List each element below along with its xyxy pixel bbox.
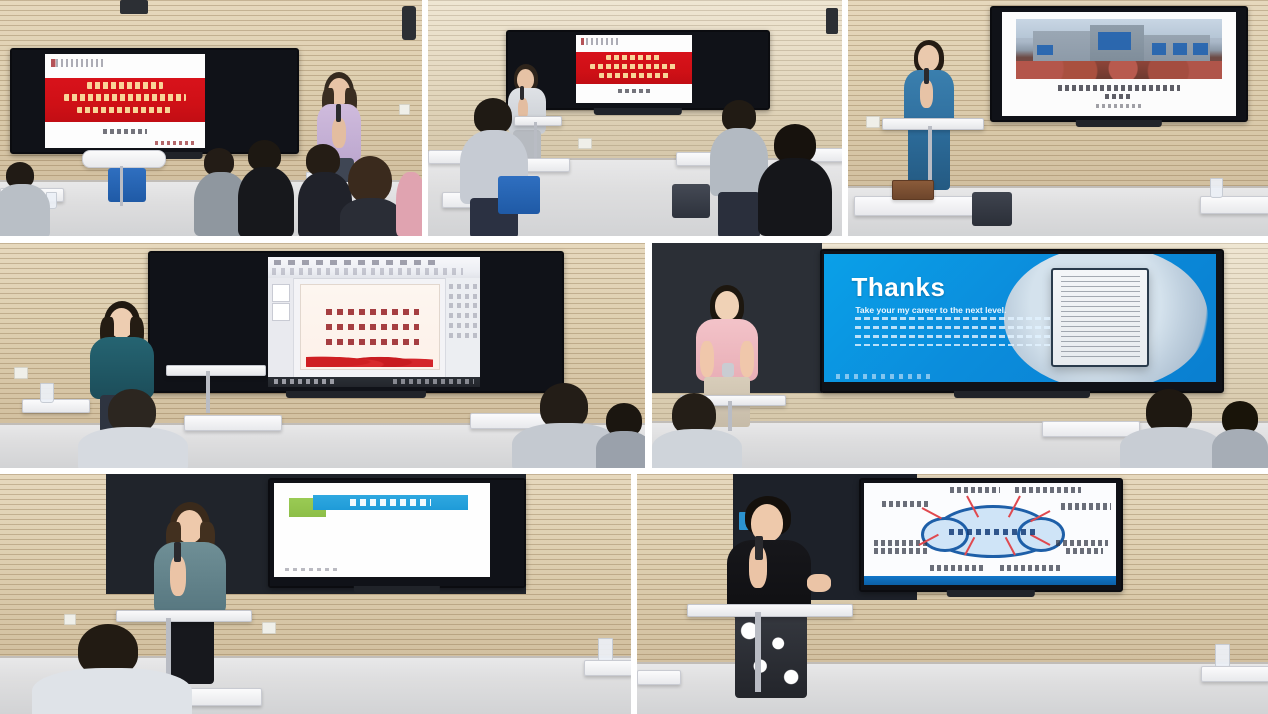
lecture-room-scene (637, 474, 1268, 714)
slide-title-line1 (87, 82, 164, 89)
audience-body (1212, 429, 1268, 468)
presenter-head (918, 45, 939, 71)
slide-tray (836, 374, 930, 379)
lecture-room-scene (0, 474, 631, 714)
collage-panel-top-left[interactable] (0, 0, 422, 236)
ppt-status-bar[interactable] (268, 377, 480, 387)
ppt-thumbnail[interactable] (272, 303, 290, 321)
audience-body (596, 431, 645, 468)
lectern-leg (206, 371, 210, 413)
slide-title-line1 (606, 55, 662, 60)
slide-building-photo (1002, 12, 1236, 116)
ppt-panel-row (449, 284, 476, 289)
book-text-lines (1061, 276, 1140, 359)
branch-label-bottom-right (1000, 565, 1060, 571)
slide-item-1 (326, 309, 420, 315)
window (1152, 43, 1166, 55)
water-cup (1215, 644, 1230, 668)
display-screen (992, 8, 1246, 120)
branch-label-top-left (950, 487, 1000, 493)
branch-label-lower-right-2 (1066, 548, 1104, 554)
lecture-room-scene: Thanks Take your my career to the next l… (652, 243, 1268, 468)
wall-display[interactable] (268, 478, 526, 588)
school-logo (51, 59, 105, 67)
lectern-leg (755, 612, 761, 692)
slide-title-line3 (77, 107, 173, 114)
ppt-slide-thumbnails[interactable] (268, 278, 294, 377)
ppt-ribbon-tabs[interactable] (274, 260, 437, 265)
ppt-ribbon-tools[interactable] (272, 268, 463, 275)
slide-item-3 (326, 339, 420, 345)
audience-head (348, 156, 392, 204)
ppt-panel-row (449, 303, 476, 308)
audience-member (396, 166, 422, 236)
lectern (116, 610, 252, 622)
collage-panel-bottom-left[interactable] (0, 474, 631, 714)
display-screen (270, 480, 524, 586)
slide-thanks: Thanks Take your my career to the next l… (824, 254, 1216, 382)
lectern (882, 118, 984, 130)
building-photo (1016, 19, 1222, 78)
display-stand (594, 108, 682, 115)
audience-body (758, 158, 832, 236)
microphone (336, 104, 341, 122)
slide-tray (285, 568, 337, 572)
display-stand (286, 391, 426, 398)
branch-label-top-right (1015, 487, 1081, 493)
slide-cloud-mindmap (864, 483, 1116, 585)
display-stand (1076, 120, 1162, 127)
audience-body (0, 184, 50, 236)
ppt-status-right (393, 379, 474, 383)
water-cup (1210, 178, 1223, 198)
presenter-arm-right (740, 341, 754, 377)
water-cup (40, 383, 54, 403)
display-stand (954, 391, 1090, 398)
audience-member (32, 624, 192, 714)
cloud-shape (932, 505, 1054, 558)
chair (972, 192, 1012, 226)
ppt-panel-row (449, 333, 476, 338)
window (1193, 43, 1207, 55)
chair (498, 176, 540, 214)
branch-arrow (921, 508, 941, 520)
audience-member (596, 403, 645, 468)
chair (672, 184, 710, 218)
presenter-arm (920, 80, 933, 108)
display-screen (861, 480, 1121, 590)
microphone (722, 363, 734, 377)
wall-outlet (14, 367, 28, 379)
presenter-skirt (735, 614, 807, 698)
slide-item-2 (326, 324, 420, 330)
audience-body (238, 167, 294, 236)
ppt-panel-row (449, 294, 476, 299)
collage-panel-bottom-right[interactable] (637, 474, 1268, 714)
display-stand (354, 586, 440, 593)
branch-label-lower-right (1056, 540, 1109, 546)
photo-collage: Thanks Take your my career to the next l… (0, 0, 1268, 714)
slide-footer (155, 141, 197, 145)
slide-title-line3 (599, 73, 669, 78)
window (1173, 43, 1187, 55)
slide-bottom-bar (864, 576, 1116, 585)
slide-body-text (855, 315, 1051, 346)
microphone (924, 68, 929, 84)
wall-display[interactable]: Thanks Take your my career to the next l… (820, 249, 1224, 393)
wall-speaker (402, 6, 416, 40)
wall-outlet (866, 116, 880, 128)
slide-caption-line3 (1096, 104, 1143, 108)
audience-body (652, 429, 742, 468)
slide-title-line2 (64, 94, 186, 101)
branch-label-lower-left-2 (874, 548, 929, 554)
wall-speaker (826, 8, 838, 34)
wall-outlet (399, 104, 410, 115)
ppt-panel-row (449, 313, 476, 318)
branch-label-bottom-left (930, 565, 985, 571)
desk (1200, 196, 1268, 214)
presenter-torso (154, 542, 226, 616)
presenter-arm-left (700, 341, 714, 377)
lectern-leg (928, 126, 932, 188)
collage-panel-middle-right[interactable]: Thanks Take your my career to the next l… (652, 243, 1268, 468)
school-logo (581, 38, 620, 44)
display-screen: Thanks Take your my career to the next l… (822, 251, 1222, 391)
lectern (166, 365, 266, 376)
briefcase (892, 180, 934, 200)
microphone (174, 542, 181, 562)
chair (108, 168, 146, 202)
collage-panel-middle-left[interactable] (0, 243, 645, 468)
audience-legs (718, 192, 760, 236)
lecture-room-scene (0, 0, 422, 236)
desk (637, 670, 681, 685)
audience-head (474, 98, 512, 134)
audience-member (1120, 389, 1222, 468)
slide-red-title (576, 35, 692, 103)
microphone (755, 536, 763, 560)
audience-member (758, 124, 832, 236)
desk (184, 415, 282, 431)
audience-body (78, 427, 188, 468)
slide-subheading: Take your my career to the next level. (855, 305, 1059, 316)
desk (1201, 666, 1268, 682)
powerpoint-window[interactable] (268, 257, 480, 387)
desk (584, 660, 631, 676)
presenter-arm (170, 556, 186, 596)
lecture-room-scene (0, 243, 645, 468)
collage-panel-top-center[interactable] (428, 0, 842, 236)
slide-title-line2 (590, 64, 678, 69)
presenter-head (715, 291, 739, 320)
glass-facade (1098, 32, 1131, 50)
water-cup (598, 638, 613, 662)
wall-outlet (578, 138, 592, 149)
presenter-arm-right (807, 574, 831, 592)
slide-banner (274, 483, 490, 577)
table-leg (120, 166, 123, 206)
ppt-thumbnail[interactable] (272, 284, 290, 302)
ppt-ribbon[interactable] (268, 257, 480, 279)
audience-body (32, 668, 192, 714)
wall-display[interactable] (10, 48, 299, 154)
slide-ink-decoration (306, 350, 433, 367)
title-banner (313, 495, 469, 510)
wall-outlet (262, 622, 276, 634)
display-screen (12, 50, 297, 152)
slide-heading: Thanks (851, 272, 945, 303)
window (1037, 45, 1053, 54)
wall-display[interactable] (990, 6, 1248, 122)
audience-member (1212, 401, 1268, 468)
slide-caption-line2 (1105, 94, 1133, 99)
lecture-room-scene (428, 0, 842, 236)
audience-member (652, 393, 742, 468)
audience-member (340, 156, 402, 236)
audience-body (1120, 427, 1222, 468)
ceiling-speaker (120, 0, 148, 14)
ppt-slide-canvas[interactable] (300, 284, 440, 370)
ppt-status-left (274, 379, 333, 383)
audience-member (196, 148, 244, 236)
banner-text (350, 499, 431, 507)
audience-member (238, 140, 292, 236)
audience-body (396, 172, 422, 236)
wall-display[interactable] (859, 478, 1123, 592)
collage-panel-top-right[interactable] (848, 0, 1268, 236)
front-table (82, 150, 166, 168)
slide-subtitle (103, 129, 148, 134)
ppt-side-panel[interactable] (445, 278, 480, 377)
flower-bed (1016, 61, 1222, 79)
slide-subtitle (618, 89, 651, 92)
ppt-panel-row (449, 323, 476, 328)
audience-member (0, 162, 44, 236)
display-stand (947, 590, 1035, 597)
lectern (687, 604, 853, 617)
slide-caption-line1 (1058, 85, 1180, 91)
mindmap-center-label (949, 529, 1037, 535)
open-book-graphic (1051, 268, 1149, 367)
audience-member (78, 389, 188, 468)
slide-red-title (45, 54, 205, 148)
audience-body (340, 198, 402, 236)
audience-member (460, 98, 528, 236)
lecture-room-scene (848, 0, 1268, 236)
presenter (715, 496, 825, 696)
branch-label-right (1061, 503, 1111, 509)
